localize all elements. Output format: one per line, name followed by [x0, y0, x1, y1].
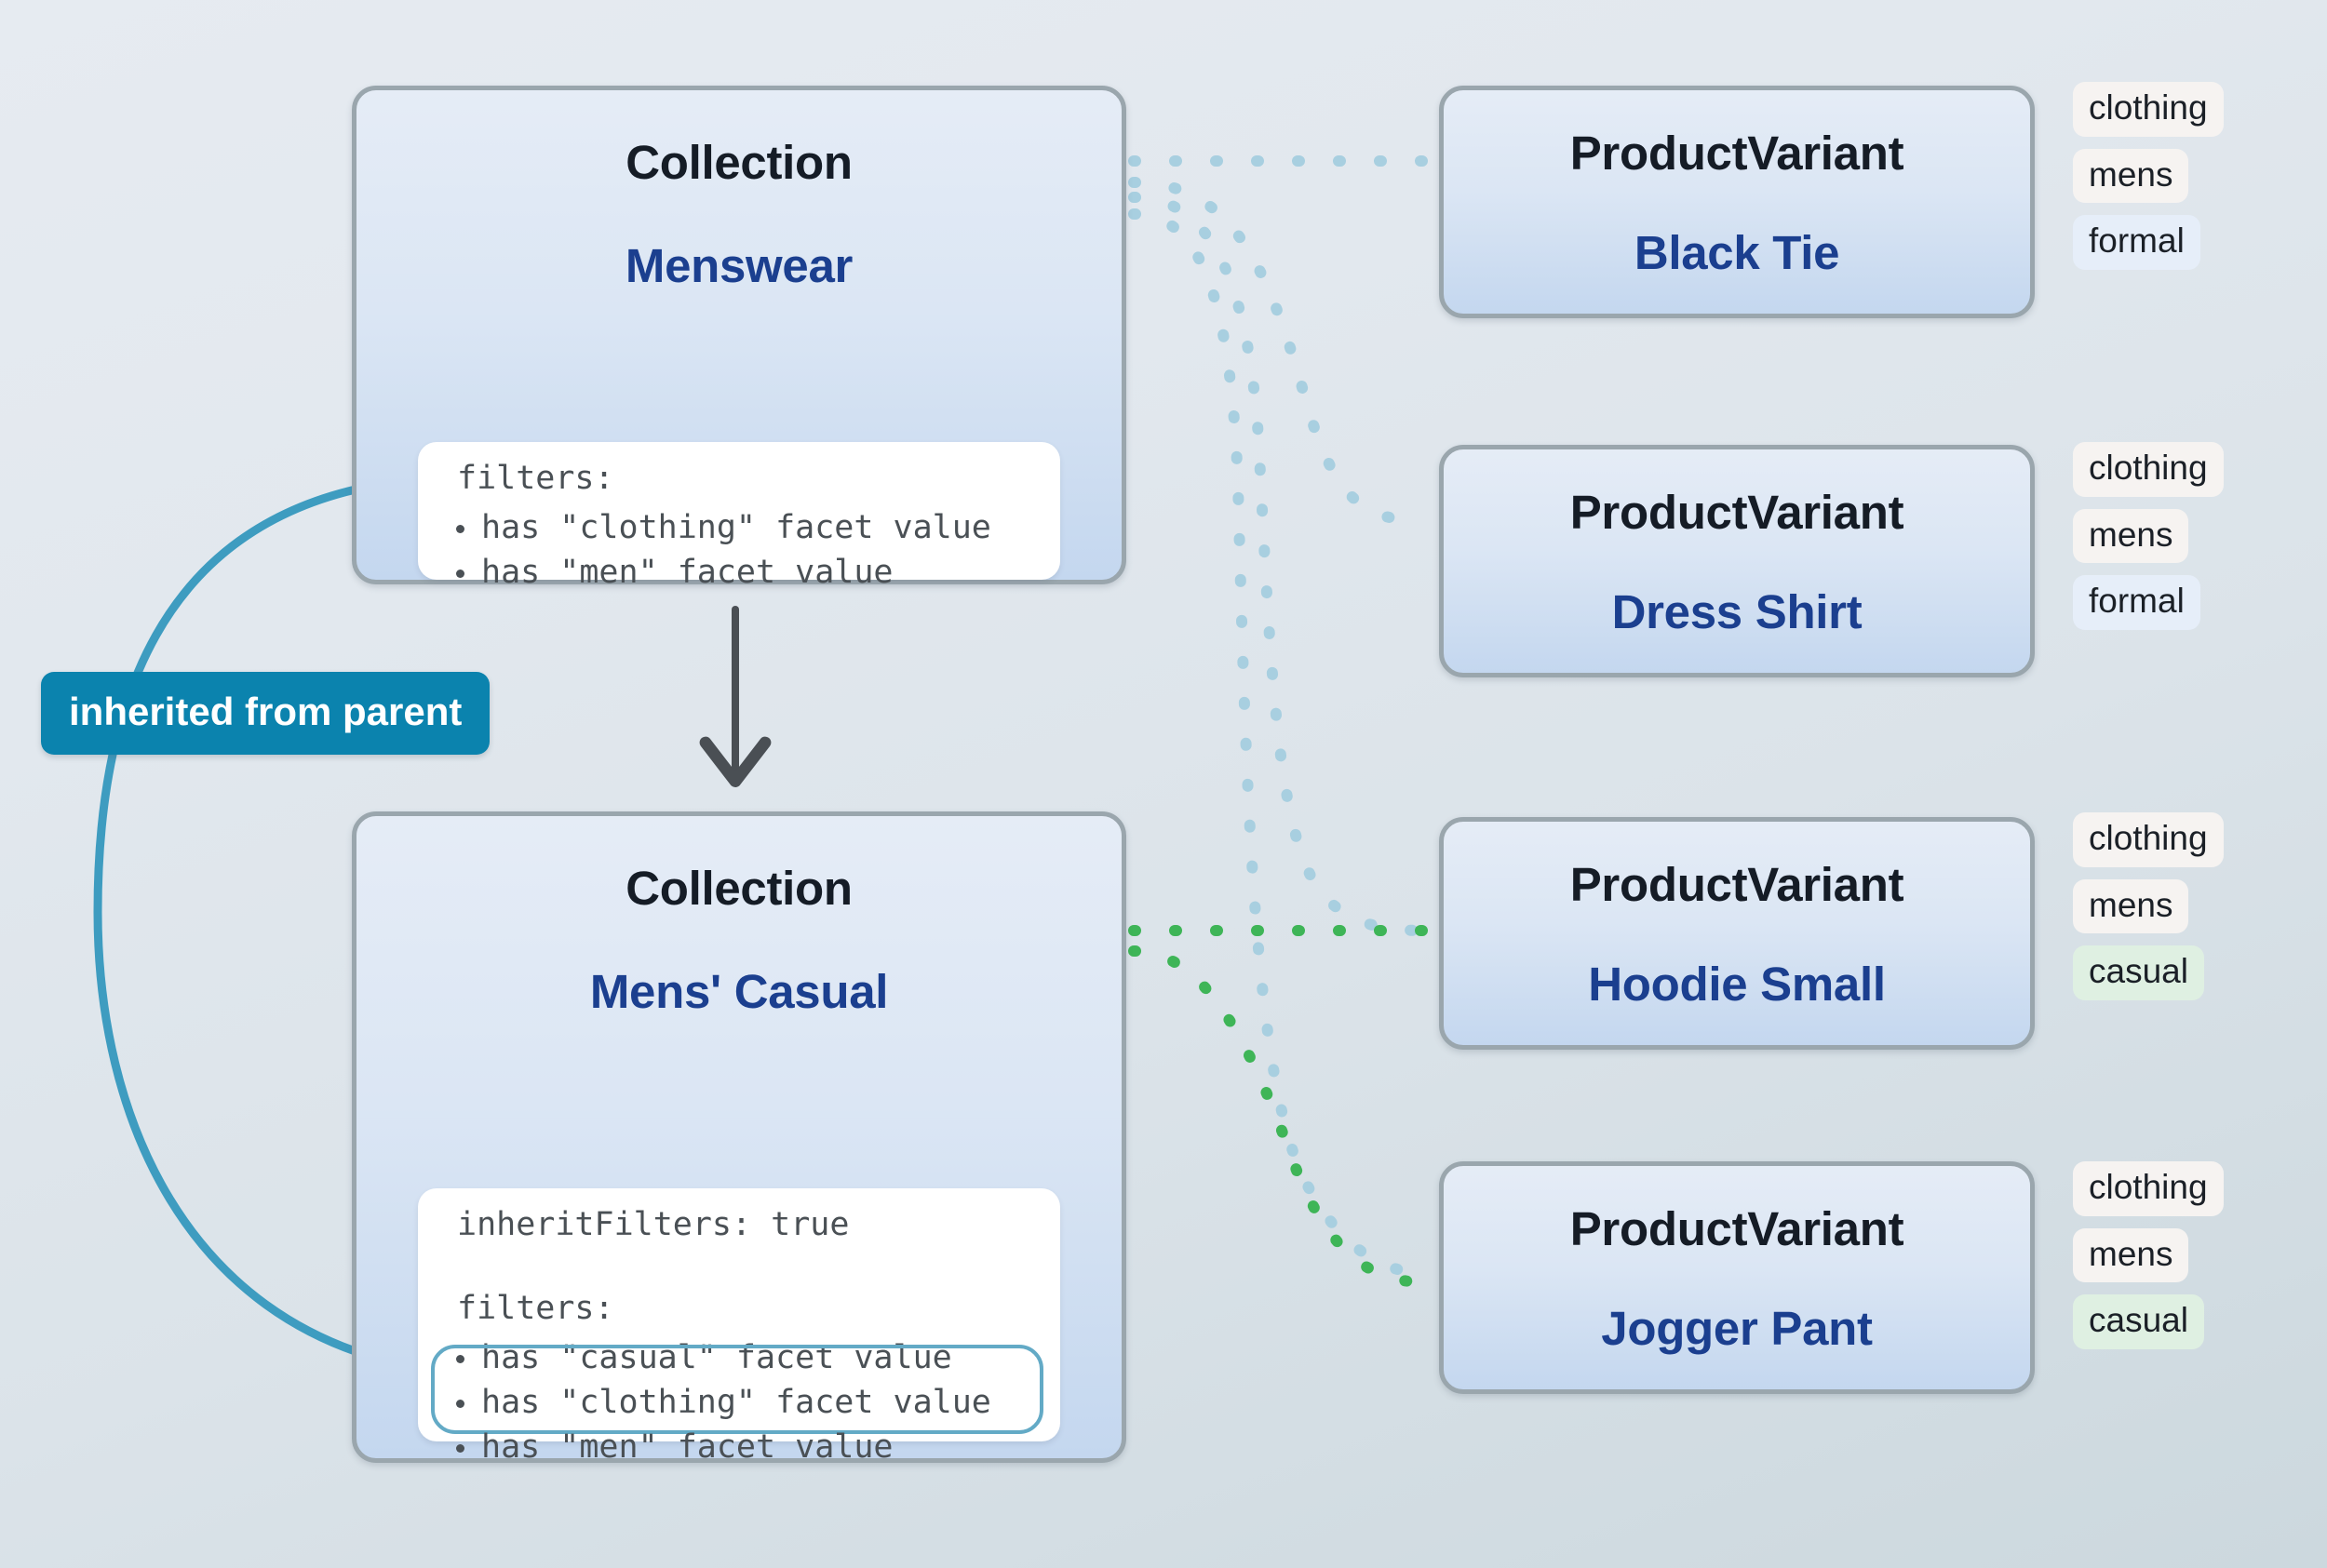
product-variant-card-black-tie[interactable]: ProductVariant Black Tie	[1439, 86, 2035, 318]
facet-tag[interactable]: casual	[2073, 1294, 2204, 1349]
facet-tag-stack-black-tie: clothing mens formal	[2073, 82, 2296, 282]
filters-card-mens-casual: inheritFilters: true filters: has "casua…	[418, 1188, 1060, 1441]
variant-type-label: ProductVariant	[1444, 485, 2030, 540]
filter-item: has "clothing" facet value	[444, 505, 1051, 550]
variant-name-dress-shirt: Dress Shirt	[1444, 584, 2030, 639]
product-variant-card-jogger-pant[interactable]: ProductVariant Jogger Pant	[1439, 1161, 2035, 1394]
collection-type-label: Collection	[356, 135, 1122, 190]
wire-menswear-jogger-pant	[1134, 214, 1424, 1273]
collection-card-mens-casual[interactable]: Collection Mens' Casual inheritFilters: …	[352, 811, 1126, 1463]
facet-tag[interactable]: mens	[2073, 149, 2188, 204]
variant-name-black-tie: Black Tie	[1444, 225, 2030, 280]
filters-card-menswear: filters: has "clothing" facet value has …	[418, 442, 1060, 580]
facet-tag[interactable]: mens	[2073, 1228, 2188, 1283]
collection-card-menswear[interactable]: Collection Menswear filters: has "clothi…	[352, 86, 1126, 584]
facet-tag[interactable]: clothing	[2073, 82, 2224, 137]
diagram-canvas: Collection Menswear filters: has "clothi…	[0, 0, 2327, 1568]
variant-name-hoodie-small: Hoodie Small	[1444, 957, 2030, 1012]
inherited-filters-list: has "clothing" facet value has "men" fac…	[444, 1380, 1051, 1469]
facet-tag[interactable]: clothing	[2073, 812, 2224, 867]
filters-label: filters:	[457, 1293, 614, 1325]
wire-mens-casual-jogger-pant	[1134, 951, 1426, 1282]
inherited-from-parent-badge: inherited from parent	[41, 672, 490, 755]
variant-type-label: ProductVariant	[1444, 1201, 2030, 1256]
wire-menswear-hoodie-small	[1134, 197, 1424, 931]
product-variant-card-dress-shirt[interactable]: ProductVariant Dress Shirt	[1439, 445, 2035, 677]
collection-name-menswear: Menswear	[356, 238, 1122, 293]
filter-item: has "men" facet value	[444, 1425, 1051, 1469]
collection-type-label: Collection	[356, 861, 1122, 916]
filters-list: has "clothing" facet value has "men" fac…	[444, 505, 1051, 595]
facet-tag-stack-jogger-pant: clothing mens casual	[2073, 1161, 2296, 1361]
facet-tag-stack-hoodie-small: clothing mens casual	[2073, 812, 2296, 1012]
variant-type-label: ProductVariant	[1444, 126, 2030, 181]
collection-name-mens-casual: Mens' Casual	[356, 964, 1122, 1019]
inherit-filters-label: inheritFilters: true	[457, 1209, 849, 1241]
facet-tag-stack-dress-shirt: clothing mens formal	[2073, 442, 2296, 642]
facet-tag[interactable]: casual	[2073, 945, 2204, 1000]
filter-item: has "clothing" facet value	[444, 1380, 1051, 1425]
variant-name-jogger-pant: Jogger Pant	[1444, 1301, 2030, 1356]
product-variant-card-hoodie-small[interactable]: ProductVariant Hoodie Small	[1439, 817, 2035, 1050]
facet-tag[interactable]: clothing	[2073, 442, 2224, 497]
facet-tag[interactable]: mens	[2073, 879, 2188, 934]
facet-tag[interactable]: clothing	[2073, 1161, 2224, 1216]
facet-tag[interactable]: formal	[2073, 215, 2200, 270]
variant-type-label: ProductVariant	[1444, 857, 2030, 912]
filter-item: has "men" facet value	[444, 550, 1051, 595]
filters-label: filters:	[457, 462, 614, 495]
facet-tag[interactable]: formal	[2073, 575, 2200, 630]
facet-tag[interactable]: mens	[2073, 509, 2188, 564]
wire-menswear-dress-shirt	[1134, 182, 1424, 521]
